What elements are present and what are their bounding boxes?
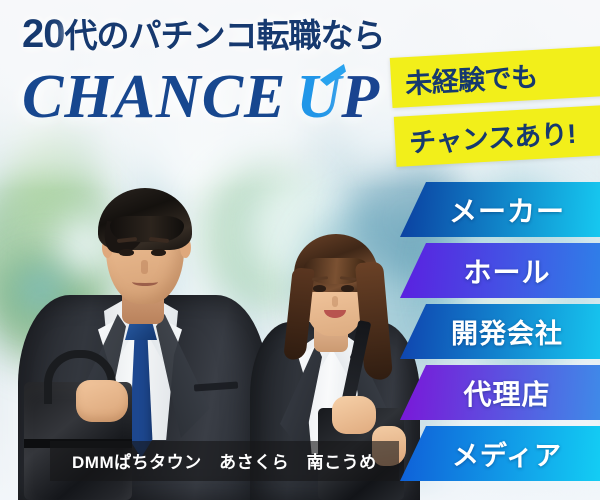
logo-chance-up: CHANCEUP [22, 66, 379, 128]
category-button-agency[interactable]: 代理店 [400, 365, 600, 420]
category-label: メディア [438, 434, 562, 473]
category-button-developer[interactable]: 開発会社 [400, 304, 600, 359]
businesswoman-eye-right [341, 285, 354, 292]
ad-banner[interactable]: 20代のパチンコ転職なら CHANCEUP 未経験でも チャンスあり! メーカー… [0, 0, 600, 500]
promo-badge-line-1: 未経験でも [390, 46, 600, 108]
headline-rest: 代のパチンコ転職なら [65, 17, 385, 54]
businesswoman-nose [332, 296, 338, 307]
promo-badge: 未経験でも チャンスあり! [391, 52, 600, 161]
category-button-list: メーカー ホール 開発会社 代理店 メディア [400, 182, 600, 487]
businesswoman-hand [332, 396, 376, 434]
businessman-nose [141, 260, 148, 274]
businesswoman-eye-left [313, 285, 326, 292]
category-button-media[interactable]: メディア [400, 426, 600, 481]
category-label: 開発会社 [437, 312, 563, 351]
headline-text: 20代のパチンコ転職なら [22, 14, 385, 54]
businessman-mouth [132, 278, 158, 286]
category-button-maker[interactable]: メーカー [400, 182, 600, 237]
businessman-eye-left [119, 249, 134, 256]
credit-caption: DMMぱちタウン あさくら 南こうめ [50, 441, 399, 481]
category-label: メーカー [435, 190, 565, 230]
category-label: 代理店 [449, 373, 550, 413]
category-button-hall[interactable]: ホール [400, 243, 600, 298]
businessman-eye-right [151, 249, 166, 256]
category-label: ホール [449, 251, 550, 291]
promo-badge-line-2: チャンスあり! [394, 105, 600, 167]
businessman-hand [76, 380, 128, 422]
logo-word-chance: CHANCE [22, 63, 286, 131]
headline-number: 20 [22, 12, 65, 56]
logo-letter-p: P [341, 63, 379, 131]
